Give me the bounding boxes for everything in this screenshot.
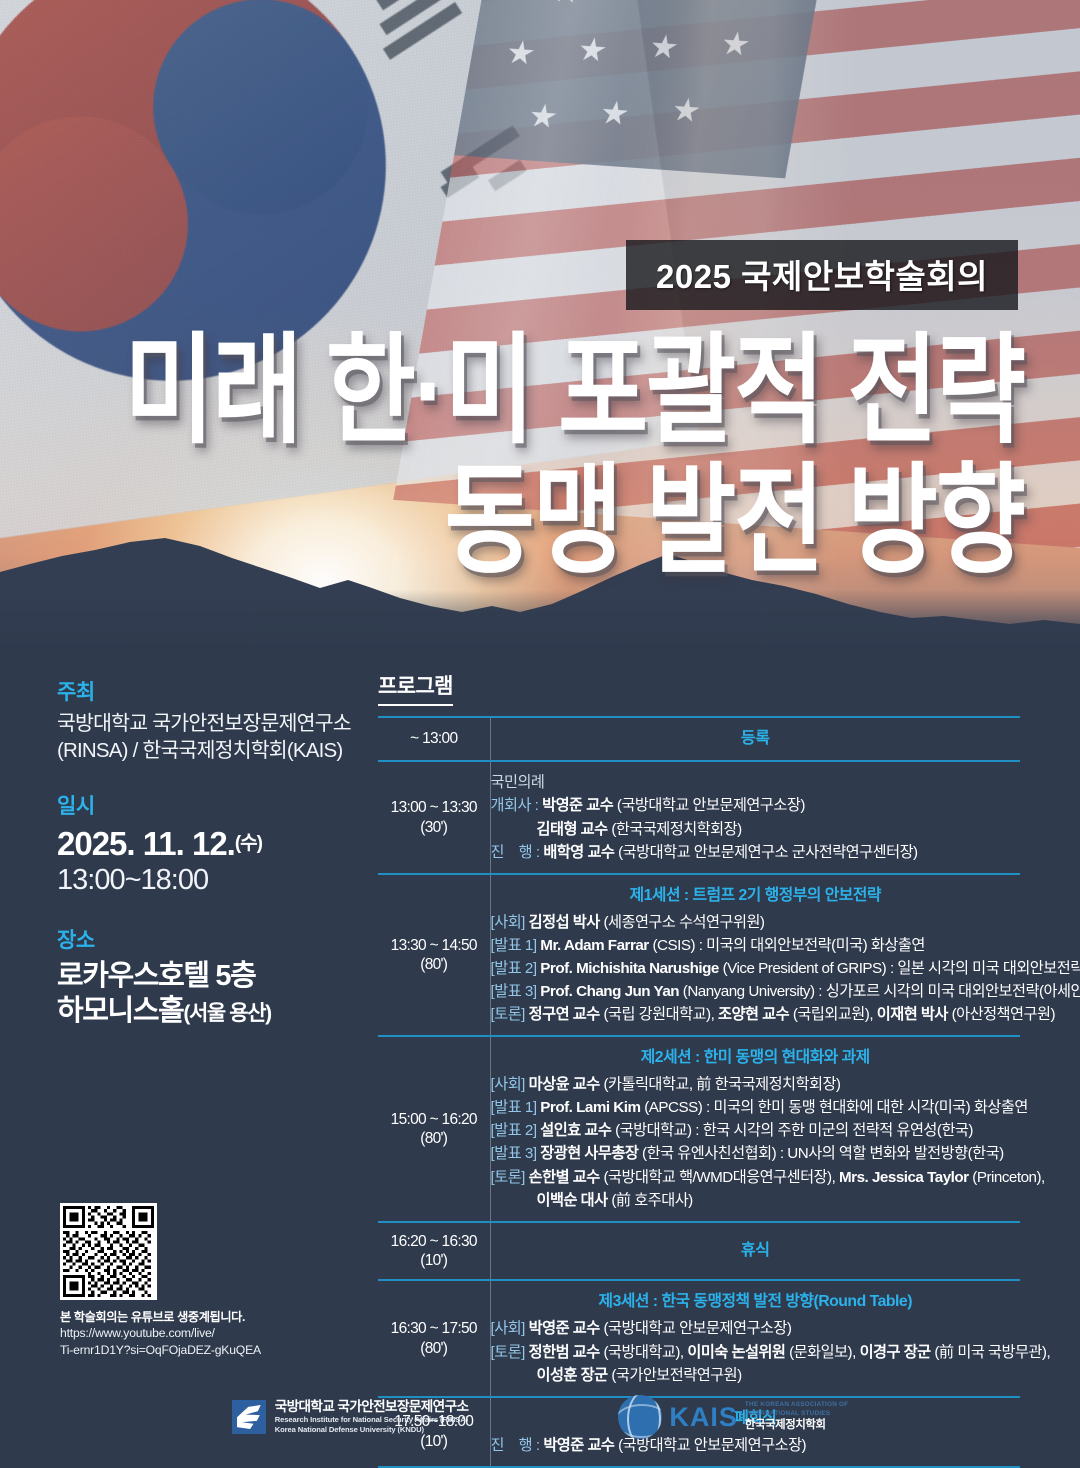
row-time-cell: 13:00 ~ 13:30(30') — [378, 761, 490, 873]
row-heading: 등록 — [491, 727, 1021, 751]
place-block: 장소 로카우스호텔 5층 하모니스홀(서울 용산) — [57, 924, 357, 1030]
rinsa-name-kr: 국방대학교 국가안전보장문제연구소 — [275, 1399, 469, 1415]
table-row: ~ 13:00등록 — [378, 717, 1020, 761]
headline-line-2: 동맹 발전 방향 — [445, 460, 1024, 580]
detail-line: [토론] 손한별 교수 (국방대학교 핵/WMD대응연구센터장), Mrs. J… — [491, 1166, 1021, 1189]
row-detail-cell: 제1세션 : 트럼프 2기 행정부의 안보전략[사회] 김정섭 박사 (세종연구… — [490, 874, 1020, 1036]
footer-logos: 국방대학교 국가안전보장문제연구소 Research Institute for… — [0, 1395, 1080, 1439]
row-time-cell: 13:30 ~ 14:50(80') — [378, 874, 490, 1036]
qr-code-icon[interactable] — [60, 1203, 157, 1300]
row-time-cell: ~ 13:00 — [378, 717, 490, 761]
detail-line: 이성훈 장군 (국가안보전략연구원) — [491, 1364, 1021, 1387]
livestream-qr-block: 본 학술회의는 유튜브로 생중계됩니다. https://www.youtube… — [60, 1203, 320, 1358]
row-detail-cell: 제3세션 : 한국 동맹정책 발전 방향(Round Table)[사회] 박영… — [490, 1280, 1020, 1396]
host-block: 주최 국방대학교 국가안전보장문제연구소 (RINSA) / 한국국제정치학회(… — [57, 676, 357, 764]
date-dayofweek: (수) — [235, 833, 262, 854]
session-heading: 제3세션 : 한국 동맹정책 발전 방향(Round Table) — [491, 1290, 1021, 1314]
row-detail-cell: 국민의례개회사 : 박영준 교수 (국방대학교 안보문제연구소장)김태형 교수 … — [490, 761, 1020, 873]
place-label: 장소 — [57, 924, 357, 954]
date-value: 2025. 11. 12. — [57, 825, 235, 862]
row-time-cell: 16:30 ~ 17:50(80') — [378, 1280, 490, 1396]
row-heading: 휴식 — [491, 1239, 1021, 1263]
livestream-url-line-2[interactable]: Ti-ernr1D1Y?si=OqFOjaDEZ-gKuQEA — [60, 1342, 320, 1358]
program-title: 프로그램 — [378, 670, 453, 706]
date-label: 일시 — [57, 790, 357, 820]
place-line-1: 로카우스호텔 5층 — [57, 959, 357, 994]
row-time-cell: 15:00 ~ 16:20(80') — [378, 1036, 490, 1222]
detail-line: 김태형 교수 (한국국제정치학회장) — [491, 818, 1021, 841]
date-time-range: 13:00~18:00 — [57, 863, 357, 898]
place-line-2: 하모니스홀(서울 용산) — [57, 994, 357, 1029]
row-detail-cell: 제2세션 : 한미 동맹의 현대화와 과제[사회] 마상윤 교수 (카톨릭대학교… — [490, 1036, 1020, 1222]
kais-globe-icon — [618, 1395, 662, 1439]
date-block: 일시 2025. 11. 12.(수) 13:00~18:00 — [57, 790, 357, 898]
table-row: 13:00 ~ 13:30(30')국민의례개회사 : 박영준 교수 (국방대학… — [378, 761, 1020, 873]
detail-line: 이백순 대사 (前 호주대사) — [491, 1189, 1021, 1212]
place-district: (서울 용산) — [183, 1002, 270, 1025]
rinsa-name-en-1: Research Institute for National Security… — [275, 1415, 469, 1425]
detail-line: [발표 1] Mr. Adam Farrar (CSIS) : 미국의 대외안보… — [491, 934, 1021, 957]
headline-line-1: 미래 한·미 포괄적 전략 — [124, 330, 1024, 450]
session-heading: 제1세션 : 트럼프 2기 행정부의 안보전략 — [491, 884, 1021, 908]
detail-line: [발표 3] 장광현 사무총장 (한국 유엔사친선협회) : UN사의 역할 변… — [491, 1142, 1021, 1165]
poster-body: 주최 국방대학교 국가안전보장문제연구소 (RINSA) / 한국국제정치학회(… — [0, 660, 1080, 1461]
date-main: 2025. 11. 12.(수) — [57, 825, 357, 863]
rinsa-name-en-2: Korea National Defense University (KNDU) — [275, 1425, 469, 1435]
kais-name-kr: 한국국제정치학회 — [745, 1418, 848, 1433]
kais-logo: KAIS THE KOREAN ASSOCIATION OF INTERNATI… — [618, 1395, 848, 1439]
kais-name-en-1: THE KOREAN ASSOCIATION OF — [745, 1401, 848, 1410]
detail-line: [발표 2] Prof. Michishita Narushige (Vice … — [491, 957, 1021, 980]
session-heading: 제2세션 : 한미 동맹의 현대화와 과제 — [491, 1046, 1021, 1070]
row-time-cell: 16:20 ~ 16:30(10') — [378, 1222, 490, 1281]
livestream-caption: 본 학술회의는 유튜브로 생중계됩니다. — [60, 1309, 320, 1325]
detail-line: [발표 2] 설인효 교수 (국방대학교) : 한국 시각의 주한 미군의 전략… — [491, 1119, 1021, 1142]
detail-line: [사회] 박영준 교수 (국방대학교 안보문제연구소장) — [491, 1317, 1021, 1340]
row-detail-cell: 휴식 — [490, 1222, 1020, 1281]
detail-line: 개회사 : 박영준 교수 (국방대학교 안보문제연구소장) — [491, 794, 1021, 817]
rinsa-logo: 국방대학교 국가안전보장문제연구소 Research Institute for… — [232, 1399, 469, 1436]
host-text: 국방대학교 국가안전보장문제연구소 (RINSA) / 한국국제정치학회(KAI… — [57, 711, 357, 764]
kais-wordmark: KAIS — [669, 1404, 738, 1431]
host-label: 주최 — [57, 676, 357, 706]
hero-banner: 2025 국제안보학술회의 미래 한·미 포괄적 전략 동맹 발전 방향 — [0, 0, 1080, 660]
detail-line: [토론] 정구연 교수 (국립 강원대학교), 조양현 교수 (국립외교원), … — [491, 1003, 1021, 1026]
program-section: 프로그램 ~ 13:00등록13:00 ~ 13:30(30')국민의례개회사 … — [378, 670, 1020, 1468]
place-hall: 하모니스홀 — [57, 995, 183, 1027]
table-row: 16:20 ~ 16:30(10')휴식 — [378, 1222, 1020, 1281]
detail-line: 국민의례 — [491, 771, 1021, 794]
detail-line: 진 행 : 배학영 교수 (국방대학교 안보문제연구소 군사전략연구센터장) — [491, 841, 1021, 864]
detail-line: [사회] 김정섭 박사 (세종연구소 수석연구위원) — [491, 911, 1021, 934]
table-row: 16:30 ~ 17:50(80')제3세션 : 한국 동맹정책 발전 방향(R… — [378, 1280, 1020, 1396]
event-kicker: 2025 국제안보학술회의 — [626, 240, 1018, 310]
livestream-url-line-1[interactable]: https://www.youtube.com/live/ — [60, 1325, 320, 1341]
detail-line: [토론] 정한범 교수 (국방대학교), 이미숙 논설위원 (문화일보), 이경… — [491, 1341, 1021, 1364]
table-row: 13:30 ~ 14:50(80')제1세션 : 트럼프 2기 행정부의 안보전… — [378, 874, 1020, 1036]
table-row: 15:00 ~ 16:20(80')제2세션 : 한미 동맹의 현대화와 과제[… — [378, 1036, 1020, 1222]
detail-line: [사회] 마상윤 교수 (카톨릭대학교, 前 한국국제정치학회장) — [491, 1073, 1021, 1096]
detail-line: [발표 1] Prof. Lami Kim (APCSS) : 미국의 한미 동… — [491, 1096, 1021, 1119]
kais-name-en-2: INTERNATIONAL STUDIES — [745, 1410, 848, 1419]
rinsa-mark-icon — [232, 1400, 266, 1434]
row-detail-cell: 등록 — [490, 717, 1020, 761]
program-table: ~ 13:00등록13:00 ~ 13:30(30')국민의례개회사 : 박영준… — [378, 716, 1020, 1468]
event-info-column: 주최 국방대학교 국가안전보장문제연구소 (RINSA) / 한국국제정치학회(… — [57, 676, 357, 1056]
detail-line: [발표 3] Prof. Chang Jun Yan (Nanyang Univ… — [491, 980, 1021, 1003]
hero-fade — [0, 590, 1080, 660]
